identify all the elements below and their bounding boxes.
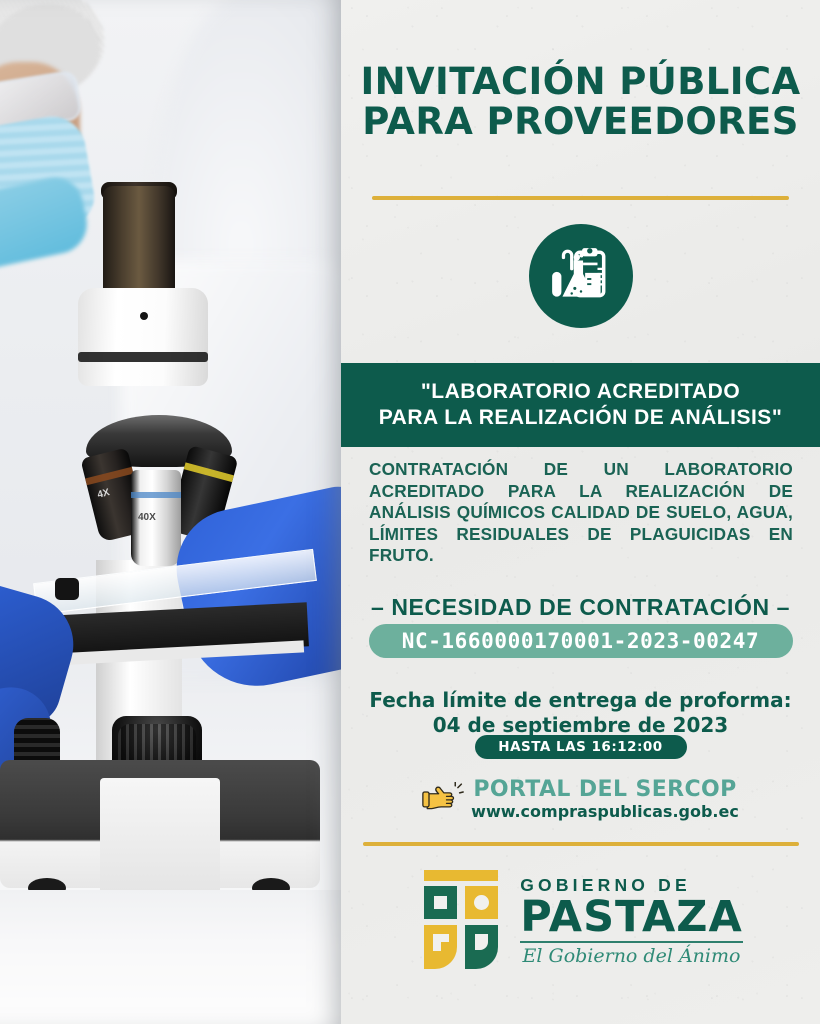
description-text: CONTRATACIÓN DE UN LABORATORIO ACREDITAD… [369, 459, 793, 567]
laboratory-flask-clipboard-icon [548, 243, 614, 309]
subject-banner-line2: PARA LA REALIZACIÓN DE ANÁLISIS" [379, 405, 783, 431]
poster-root: 4X 40X INVITACIÓN PÚBLICA PARA PROVEEDOR [0, 0, 820, 1024]
microscope-photo: 4X 40X [0, 0, 341, 1024]
logo-underline [520, 941, 743, 943]
laboratory-badge [529, 224, 633, 328]
deadline-label: Fecha límite de entrega de proforma: [369, 688, 791, 712]
need-code-pill: NC-1660000170001-2023-00247 [369, 624, 793, 658]
pointing-right-hand-icon [422, 782, 464, 816]
divider-bottom [363, 842, 799, 846]
deadline-time-pill: HASTA LAS 16:12:00 [475, 735, 687, 759]
photo-vignette [0, 0, 341, 1024]
page-title-line1: INVITACIÓN PÚBLICA [360, 60, 800, 103]
content-panel: INVITACIÓN PÚBLICA PARA PROVEEDORES [341, 0, 820, 1024]
page-title: INVITACIÓN PÚBLICA PARA PROVEEDORES [341, 62, 820, 142]
subject-banner: "LABORATORIO ACREDITADO PARA LA REALIZAC… [341, 363, 820, 447]
logo-tagline: El Gobierno del Ánimo [523, 944, 741, 968]
divider-top [372, 196, 789, 200]
need-label: – NECESIDAD DE CONTRATACIÓN – [341, 594, 820, 621]
government-logo: GOBIERNO DE PASTAZA El Gobierno del Ánim… [341, 868, 820, 976]
portal-name: PORTAL DEL SERCOP [473, 778, 736, 802]
subject-banner-line1: "LABORATORIO ACREDITADO [421, 379, 740, 405]
pastaza-shield-logo [418, 868, 504, 976]
page-title-line2: PARA PROVEEDORES [341, 102, 820, 142]
deadline-date: 04 de septiembre de 2023 [433, 713, 728, 737]
portal-block[interactable]: PORTAL DEL SERCOP www.compraspublicas.go… [341, 778, 820, 822]
deadline-block: Fecha límite de entrega de proforma: 04 … [341, 688, 820, 738]
logo-line2: PASTAZA [520, 895, 743, 939]
portal-url[interactable]: www.compraspublicas.gob.ec [471, 802, 739, 822]
